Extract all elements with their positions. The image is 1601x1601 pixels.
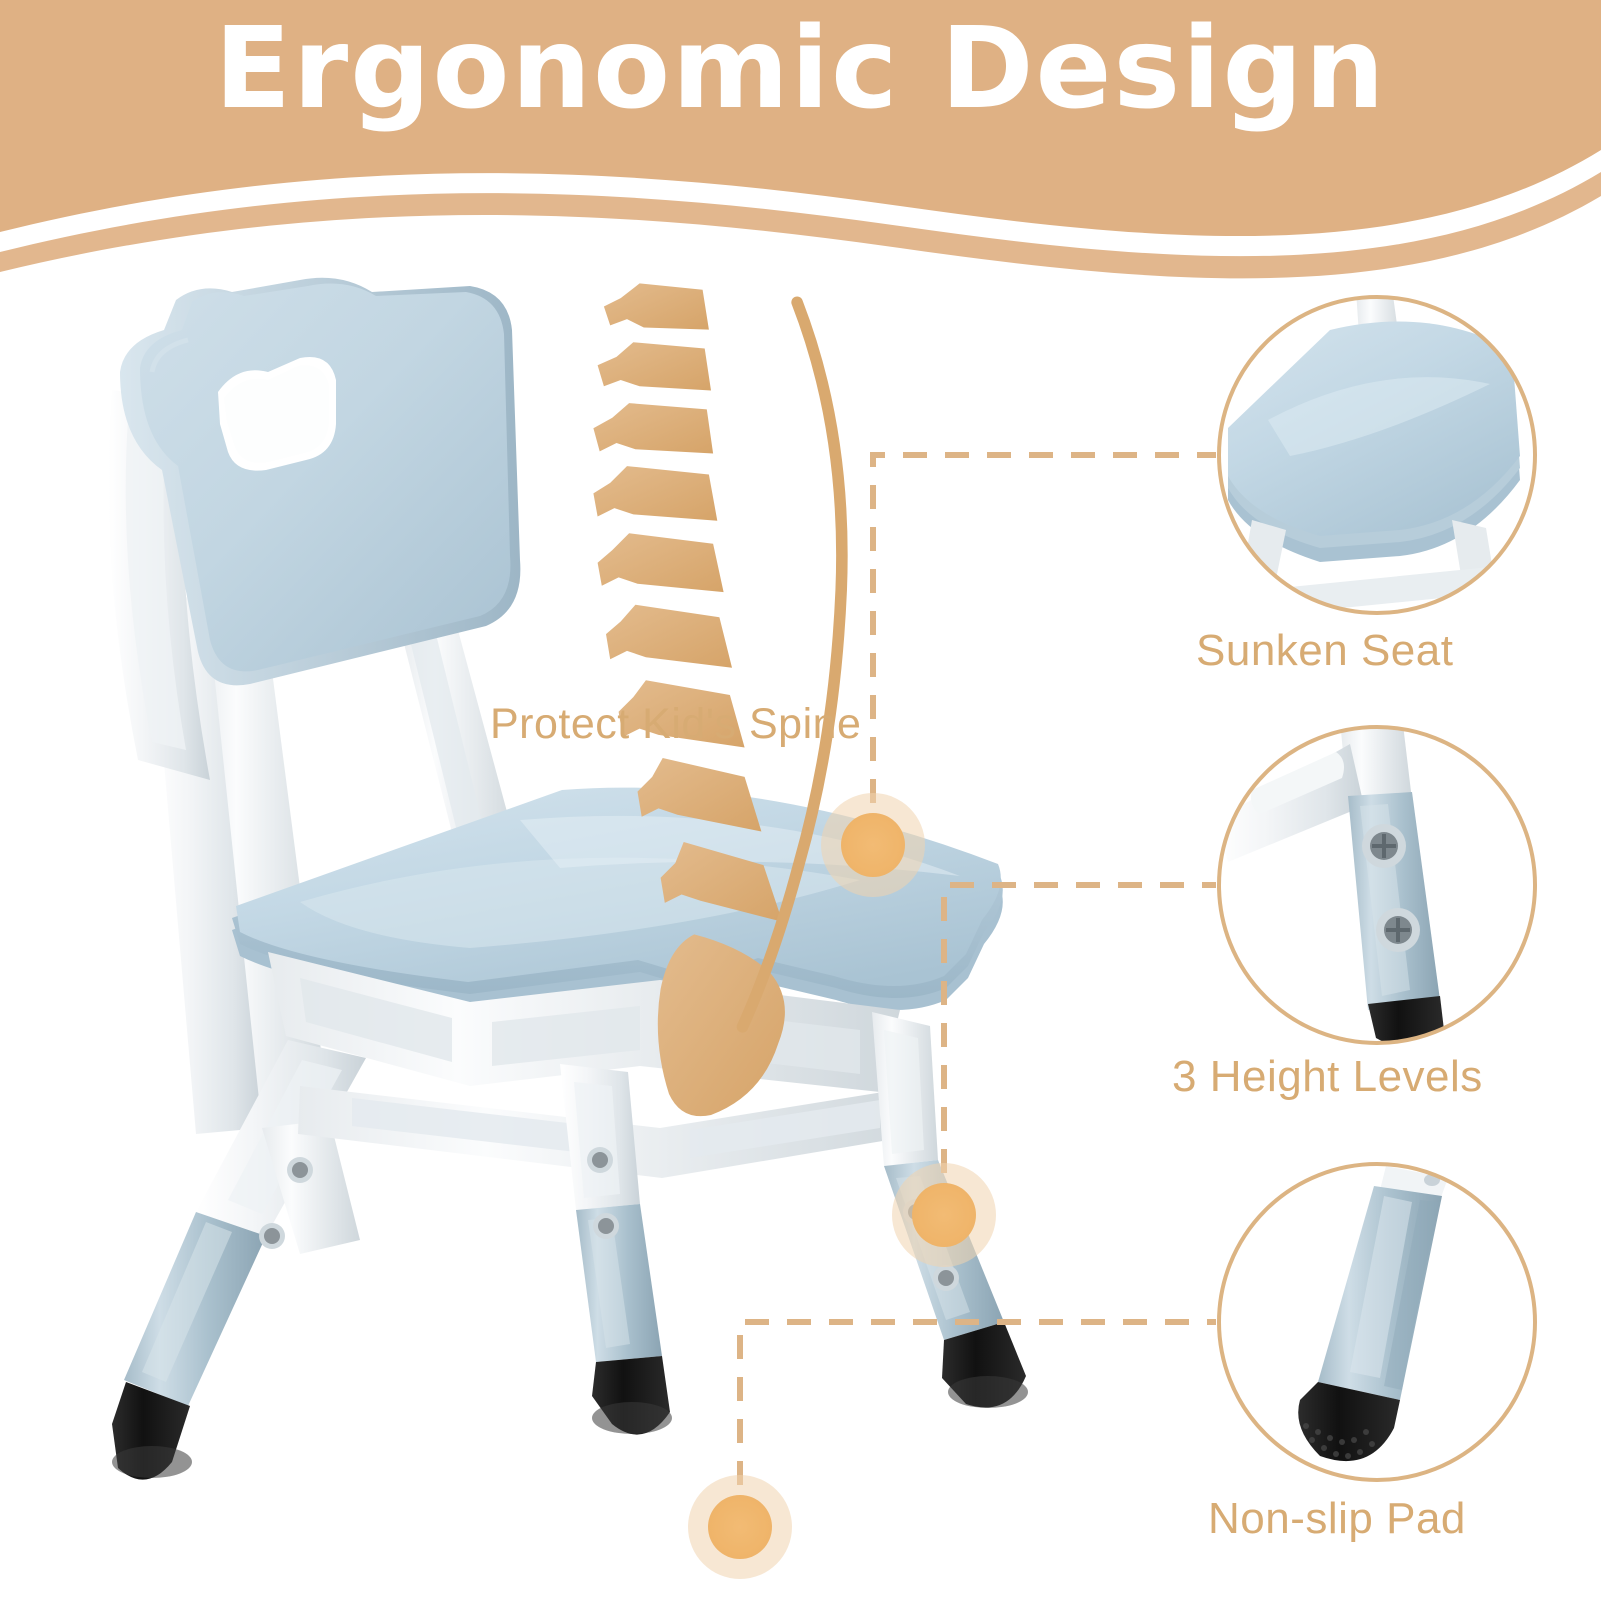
caption-non-slip-pad: Non-slip Pad bbox=[1208, 1494, 1466, 1544]
product-illustration-layer bbox=[0, 0, 1601, 1601]
detail-circle-non-slip-pad bbox=[1219, 1164, 1535, 1480]
caption-height-levels: 3 Height Levels bbox=[1172, 1052, 1483, 1102]
detail-circle-height-levels bbox=[1216, 716, 1535, 1046]
marker-non-slip-pad bbox=[688, 1475, 792, 1579]
caption-sunken-seat: Sunken Seat bbox=[1196, 626, 1453, 676]
detail-circle-sunken-seat bbox=[1219, 288, 1535, 618]
marker-sunken-seat bbox=[821, 793, 925, 897]
marker-height-levels bbox=[892, 1163, 996, 1267]
infographic-canvas: Ergonomic Design Protect Kid's Spine Sun… bbox=[0, 0, 1601, 1601]
caption-protect-spine: Protect Kid's Spine bbox=[490, 700, 861, 749]
connector-sunken-seat bbox=[873, 455, 1216, 845]
chair-front-right-leg bbox=[560, 1064, 672, 1435]
